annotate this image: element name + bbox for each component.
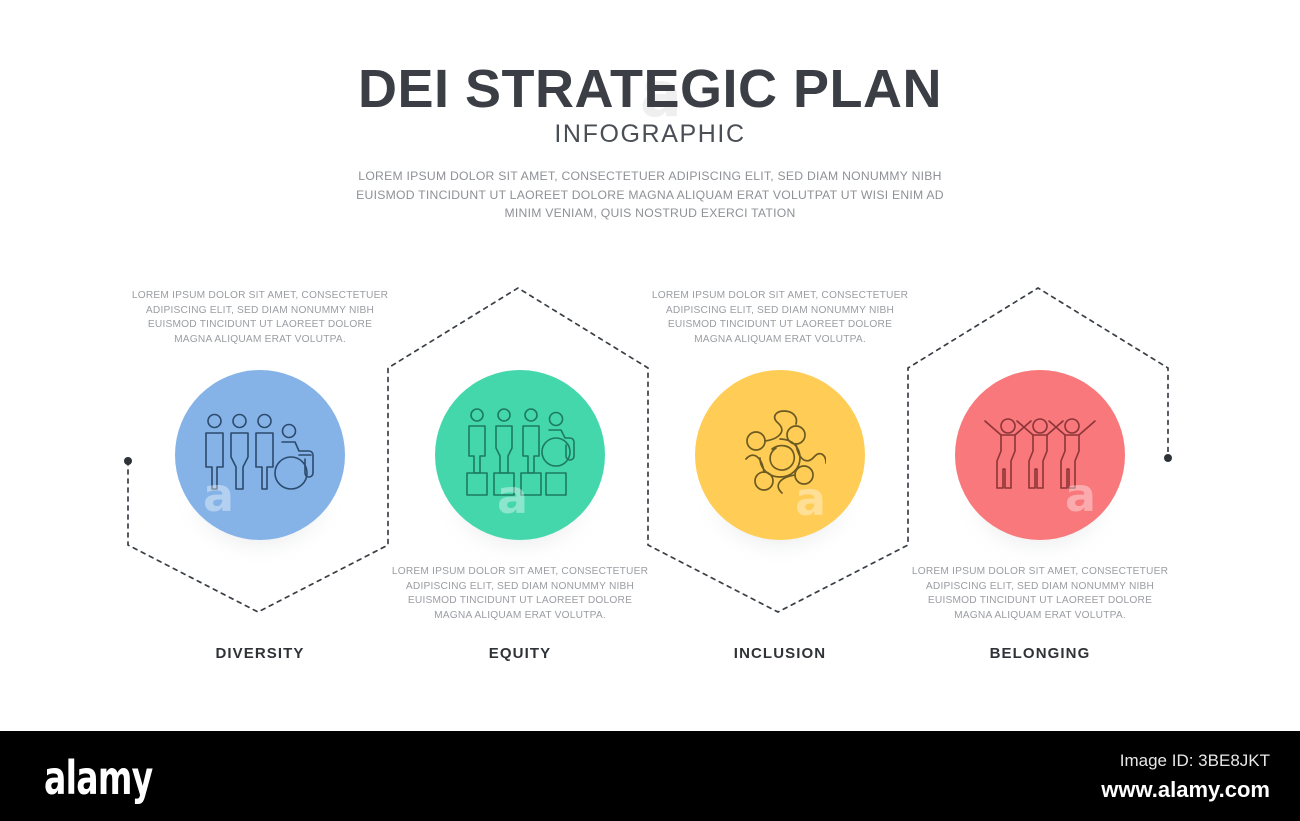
teamwork-swirl-icon xyxy=(734,409,826,501)
lead-paragraph: LOREM IPSUM DOLOR SIT AMET, CONSECTETUER… xyxy=(350,167,950,223)
circle-fill-diversity xyxy=(175,370,345,540)
circle-fill-belonging xyxy=(955,370,1125,540)
connector-start-dot xyxy=(124,457,132,465)
alamy-url[interactable]: www.alamy.com xyxy=(1101,777,1270,803)
step-label-equity: EQUITY xyxy=(390,645,650,662)
page-subtitle: INFOGRAPHIC xyxy=(0,120,1300,149)
step-icon-circle-equity[interactable]: a xyxy=(435,370,605,540)
connector-end-dot xyxy=(1164,454,1172,462)
people-arms-raised-icon xyxy=(982,416,1098,494)
footer-bar: alamy Image ID: 3BE8JKT www.alamy.com xyxy=(0,731,1300,821)
people-with-wheelchair-icon xyxy=(201,409,319,501)
step-description-equity: LOREM IPSUM DOLOR SIT AMET, CONSECTETUER… xyxy=(390,565,650,623)
step-icon-circle-belonging[interactable]: a xyxy=(955,370,1125,540)
circle-fill-equity xyxy=(435,370,605,540)
step-description-diversity: LOREM IPSUM DOLOR SIT AMET, CONSECTETUER… xyxy=(130,289,390,347)
infographic-canvas: a DEI STRATEGIC PLAN INFOGRAPHIC LOREM I… xyxy=(0,0,1300,821)
step-description-inclusion: LOREM IPSUM DOLOR SIT AMET, CONSECTETUER… xyxy=(650,289,910,347)
step-icon-circle-inclusion[interactable]: a xyxy=(695,370,865,540)
people-on-platforms-icon xyxy=(464,405,576,505)
circle-fill-inclusion xyxy=(695,370,865,540)
step-label-inclusion: INCLUSION xyxy=(650,645,910,662)
image-id-text: Image ID: 3BE8JKT xyxy=(1120,751,1270,771)
step-label-diversity: DIVERSITY xyxy=(130,645,390,662)
alamy-logo: alamy xyxy=(44,751,153,805)
step-label-belonging: BELONGING xyxy=(910,645,1170,662)
page-title: DEI STRATEGIC PLAN xyxy=(0,58,1300,120)
step-description-belonging: LOREM IPSUM DOLOR SIT AMET, CONSECTETUER… xyxy=(910,565,1170,623)
step-icon-circle-diversity[interactable]: a xyxy=(175,370,345,540)
